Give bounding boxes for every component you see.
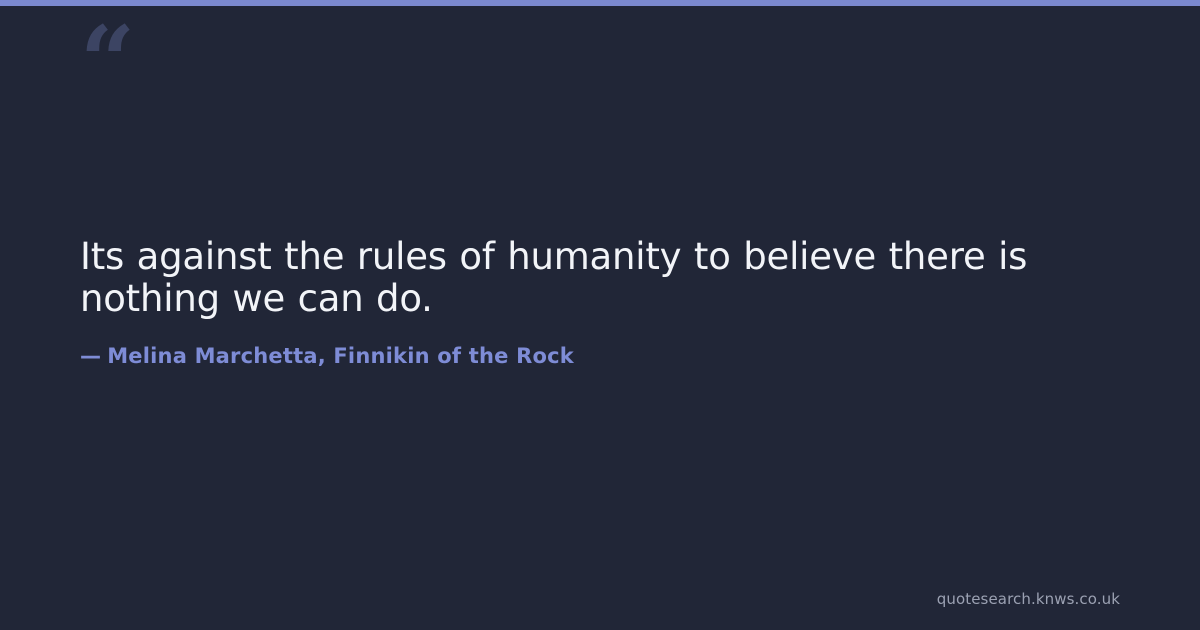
quote-text: Its against the rules of humanity to bel… <box>80 236 1090 320</box>
attribution-author: Melina Marchetta <box>107 344 317 368</box>
attribution-separator: , <box>318 344 334 368</box>
attribution-dash: — <box>80 344 101 368</box>
quote-card: “ Its against the rules of humanity to b… <box>0 0 1200 630</box>
top-accent-bar <box>0 0 1200 6</box>
opening-quote-icon: “ <box>80 14 133 110</box>
site-watermark: quotesearch.knws.co.uk <box>937 590 1120 608</box>
quote-block: Its against the rules of humanity to bel… <box>80 236 1090 320</box>
attribution-source: Finnikin of the Rock <box>333 344 574 368</box>
quote-attribution: —Melina Marchetta, Finnikin of the Rock <box>80 344 574 368</box>
